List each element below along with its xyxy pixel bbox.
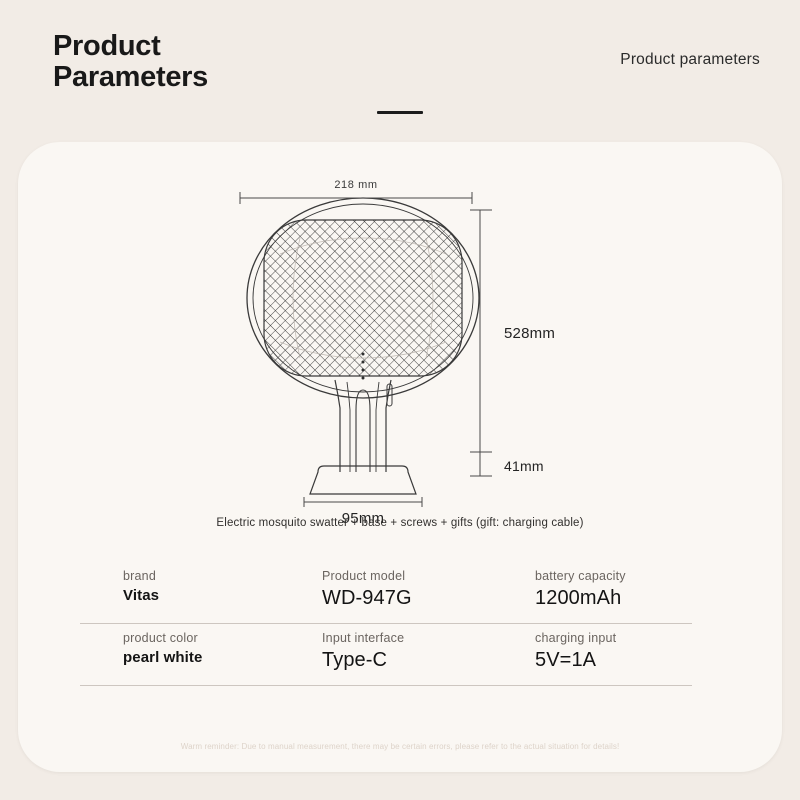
header-divider	[377, 111, 423, 114]
spec-label: product color	[123, 631, 285, 645]
spec-value: 1200mAh	[535, 587, 692, 610]
spec-table: brand Vitas Product model WD-947G batter…	[80, 562, 692, 686]
spec-cell-brand: brand Vitas	[80, 569, 285, 604]
width-dimension-label: 218 mm	[334, 179, 377, 191]
spec-label: Product model	[322, 569, 517, 583]
table-row: product color pearl white Input interfac…	[80, 624, 692, 685]
diagram-caption: Electric mosquito swatter + base + screw…	[18, 517, 782, 529]
height-dimension	[470, 210, 492, 476]
spec-value: Vitas	[123, 587, 285, 604]
page-subtitle: Product parameters	[430, 51, 760, 69]
width-dimension	[240, 192, 472, 204]
spec-cell-product-color: product color pearl white	[80, 631, 285, 666]
spec-cell-battery-capacity: battery capacity 1200mAh	[517, 569, 692, 610]
spec-label: brand	[123, 569, 285, 583]
racket-neck-left	[335, 380, 340, 472]
spec-cell-charging-input: charging input 5V=1A	[517, 631, 692, 672]
table-divider	[80, 685, 692, 686]
spec-value: pearl white	[123, 649, 285, 666]
spec-label: charging input	[535, 631, 692, 645]
spec-value: WD-947G	[322, 587, 517, 610]
base-height-dimension-label: 41mm	[504, 458, 544, 474]
spec-cell-product-model: Product model WD-947G	[285, 569, 517, 610]
spec-card: 218 mm 528mm 41mm 95mm Electric mosquito…	[18, 142, 782, 772]
handle-body	[356, 390, 370, 472]
footer-disclaimer: Warm reminder: Due to manual measurement…	[0, 742, 800, 751]
spec-value: Type-C	[322, 649, 517, 672]
spec-cell-input-interface: Input interface Type-C	[285, 631, 517, 672]
spec-label: Input interface	[322, 631, 517, 645]
base-width-dimension	[304, 497, 422, 507]
racket-neck-inner-left	[347, 382, 350, 472]
charging-base	[310, 466, 416, 494]
page-header: Product Parameters Product parameters	[0, 0, 800, 140]
spec-value: 5V=1A	[535, 649, 692, 672]
height-dimension-label: 528mm	[504, 325, 555, 342]
page-title: Product Parameters	[53, 31, 353, 94]
product-diagram: 218 mm 528mm 41mm 95mm	[18, 142, 782, 542]
table-row: brand Vitas Product model WD-947G batter…	[80, 562, 692, 623]
racket-neck-inner-right	[376, 382, 379, 472]
spec-label: battery capacity	[535, 569, 692, 583]
